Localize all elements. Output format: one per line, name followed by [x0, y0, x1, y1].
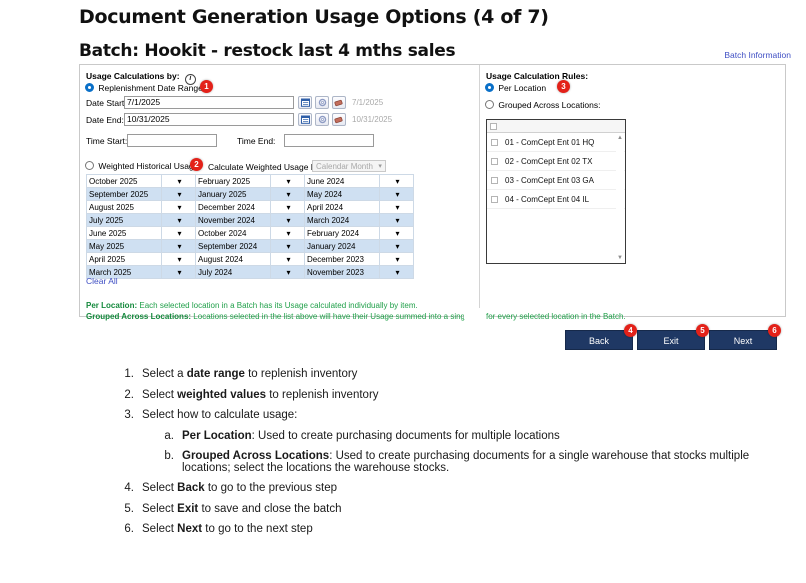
month-cell[interactable]: April 2025	[87, 253, 162, 266]
callout-badge-3: 3	[557, 80, 570, 93]
month-grid-row: October 2025▾February 2025▾June 2024▾	[87, 175, 414, 188]
month-cell[interactable]: April 2024	[305, 201, 380, 214]
date-start-input[interactable]	[124, 96, 294, 109]
callout-badge-6: 6	[768, 324, 781, 337]
pane-seam-occluder	[464, 308, 488, 319]
date-end-ghost: 10/31/2025	[352, 115, 392, 124]
date-end-label: Date End:	[86, 115, 124, 125]
note-grouped-across-locations: Grouped Across Locations: Locations sele…	[86, 312, 465, 321]
note-grouped-text: Locations selected in the list above wil…	[193, 312, 465, 321]
month-weight-dropdown[interactable]: ▾	[162, 188, 196, 201]
month-weight-dropdown[interactable]: ▾	[271, 266, 305, 279]
instruction-substep: a.Per Location: Used to create purchasin…	[160, 431, 792, 443]
month-cell[interactable]: October 2025	[87, 175, 162, 188]
location-row[interactable]: 01 - ComCept Ent 01 HQ	[487, 133, 625, 152]
month-cell[interactable]: November 2023	[305, 266, 380, 279]
usage-calculations-pane: Usage Calculations by: i Replenishment D…	[80, 65, 479, 318]
month-grid-row: May 2025▾September 2024▾January 2024▾	[87, 240, 414, 253]
weighted-by-label: Calculate Weighted Usage by:	[208, 162, 322, 172]
location-checkbox[interactable]	[491, 139, 498, 146]
month-weight-dropdown[interactable]: ▾	[162, 175, 196, 188]
month-cell[interactable]: October 2024	[196, 227, 271, 240]
month-cell[interactable]: September 2025	[87, 188, 162, 201]
radio-indicator-per-location	[485, 83, 494, 92]
month-cell[interactable]: July 2024	[196, 266, 271, 279]
month-cell[interactable]: December 2024	[196, 201, 271, 214]
location-rows: 01 - ComCept Ent 01 HQ02 - ComCept Ent 0…	[487, 133, 625, 209]
select-all-checkbox[interactable]	[490, 123, 497, 130]
callout-badge-2: 2	[190, 158, 203, 171]
month-cell[interactable]: September 2024	[196, 240, 271, 253]
month-weight-dropdown[interactable]: ▾	[162, 227, 196, 240]
month-grid-row: August 2025▾December 2024▾April 2024▾	[87, 201, 414, 214]
location-checkbox[interactable]	[491, 177, 498, 184]
month-grid-row: July 2025▾November 2024▾March 2024▾	[87, 214, 414, 227]
scroll-down-arrow[interactable]: ▼	[616, 254, 624, 262]
month-weight-dropdown[interactable]: ▾	[380, 214, 414, 227]
location-row[interactable]: 03 - ComCept Ent 03 GA	[487, 171, 625, 190]
date-end-input[interactable]	[124, 113, 294, 126]
back-button[interactable]: Back4	[565, 330, 633, 350]
instruction-step-number: 4.	[112, 483, 142, 495]
date-start-label: Date Start:	[86, 98, 127, 108]
month-weight-dropdown[interactable]: ▾	[271, 240, 305, 253]
note-grouped-text-end: for every selected location in the Batch…	[486, 312, 626, 321]
month-cell[interactable]: August 2024	[196, 253, 271, 266]
note-per-location: Per Location: Each selected location in …	[86, 301, 418, 310]
month-weight-dropdown[interactable]: ▾	[162, 253, 196, 266]
callout-badge-5: 5	[696, 324, 709, 337]
instruction-substep: b.Grouped Across Locations: Used to crea…	[160, 451, 792, 474]
instruction-list: 1.Select a date range to replenish inven…	[112, 369, 792, 545]
radio-replenishment-date-range[interactable]: Replenishment Date Range	[85, 83, 203, 93]
eraser-icon[interactable]	[332, 96, 346, 109]
location-label: 03 - ComCept Ent 03 GA	[505, 176, 594, 185]
month-cell[interactable]: June 2024	[305, 175, 380, 188]
location-label: 02 - ComCept Ent 02 TX	[505, 157, 592, 166]
instruction-substep-number: a.	[160, 431, 182, 443]
location-list-header[interactable]	[487, 120, 625, 133]
callout-badge-1: 1	[200, 80, 213, 93]
month-weight-dropdown[interactable]: ▾	[162, 201, 196, 214]
instruction-substep-number: b.	[160, 451, 182, 474]
instruction-step: 4.Select Back to go to the previous step	[112, 483, 792, 495]
month-cell[interactable]: December 2023	[305, 253, 380, 266]
time-end-label: Time End:	[237, 136, 275, 146]
gear-icon[interactable]	[315, 96, 329, 109]
instruction-step-text: Select Exit to save and close the batch	[142, 504, 792, 516]
instruction-step: 2.Select weighted values to replenish in…	[112, 390, 792, 402]
instruction-step-number: 5.	[112, 504, 142, 516]
month-weight-dropdown[interactable]: ▾	[271, 175, 305, 188]
month-cell[interactable]: November 2024	[196, 214, 271, 227]
month-weight-dropdown[interactable]: ▾	[162, 214, 196, 227]
month-cell[interactable]: January 2025	[196, 188, 271, 201]
month-grid-row: June 2025▾October 2024▾February 2024▾	[87, 227, 414, 240]
note-per-location-label: Per Location:	[86, 301, 137, 310]
month-weight-dropdown[interactable]: ▾	[271, 214, 305, 227]
location-label: 04 - ComCept Ent 04 IL	[505, 195, 589, 204]
radio-indicator-grouped	[485, 100, 494, 109]
month-weight-dropdown[interactable]: ▾	[380, 253, 414, 266]
instruction-step-text: Select Back to go to the previous step	[142, 483, 792, 495]
month-cell[interactable]: June 2025	[87, 227, 162, 240]
location-list-scrollbar[interactable]: ▲ ▼	[616, 134, 624, 262]
calendar-icon[interactable]	[298, 96, 312, 109]
month-weight-dropdown[interactable]: ▾	[380, 188, 414, 201]
month-cell[interactable]: February 2024	[305, 227, 380, 240]
exit-button[interactable]: Exit5	[637, 330, 705, 350]
next-button[interactable]: Next6	[709, 330, 777, 350]
instruction-step-number: 2.	[112, 390, 142, 402]
instruction-step-number: 3.	[112, 410, 142, 422]
month-grid-row: September 2025▾January 2025▾May 2024▾	[87, 188, 414, 201]
month-weight-dropdown[interactable]: ▾	[380, 201, 414, 214]
month-weight-dropdown[interactable]: ▾	[271, 201, 305, 214]
note-grouped-label: Grouped Across Locations:	[86, 312, 191, 321]
radio-per-location[interactable]: Per Location	[485, 83, 546, 93]
wizard-button-row: Back4Exit5Next6	[565, 330, 781, 350]
radio-indicator-date-range	[85, 83, 94, 92]
time-start-input[interactable]	[127, 134, 217, 147]
batch-information-link[interactable]: Batch Information	[724, 50, 791, 60]
month-weight-dropdown[interactable]: ▾	[380, 266, 414, 279]
weighted-by-select[interactable]: Calendar Month	[312, 160, 386, 172]
instruction-step-text: Select how to calculate usage:	[142, 410, 792, 422]
instruction-step-text: Select a date range to replenish invento…	[142, 369, 792, 381]
location-row[interactable]: 04 - ComCept Ent 04 IL	[487, 190, 625, 209]
location-list[interactable]: 01 - ComCept Ent 01 HQ02 - ComCept Ent 0…	[486, 119, 626, 264]
month-weight-dropdown[interactable]: ▾	[162, 266, 196, 279]
month-cell[interactable]: March 2024	[305, 214, 380, 227]
application-panel: Usage Calculations by: i Replenishment D…	[79, 64, 786, 317]
month-weight-dropdown[interactable]: ▾	[271, 253, 305, 266]
month-cell[interactable]: May 2025	[87, 240, 162, 253]
month-cell[interactable]: February 2025	[196, 175, 271, 188]
page-title: Document Generation Usage Options (4 of …	[79, 6, 549, 28]
radio-indicator-weighted	[85, 161, 94, 170]
month-grid-row: April 2025▾August 2024▾December 2023▾	[87, 253, 414, 266]
eraser-icon[interactable]	[332, 113, 346, 126]
month-grid-row: March 2025▾July 2024▾November 2023▾	[87, 266, 414, 279]
month-cell[interactable]: May 2024	[305, 188, 380, 201]
month-cell[interactable]: January 2024	[305, 240, 380, 253]
month-weight-dropdown[interactable]: ▾	[380, 240, 414, 253]
time-end-input[interactable]	[284, 134, 374, 147]
month-weight-dropdown[interactable]: ▾	[271, 188, 305, 201]
month-cell[interactable]: July 2025	[87, 214, 162, 227]
location-checkbox[interactable]	[491, 196, 498, 203]
callout-badge-4: 4	[624, 324, 637, 337]
instruction-step-number: 1.	[112, 369, 142, 381]
usage-rules-label: Usage Calculation Rules:	[486, 71, 588, 81]
month-weight-dropdown[interactable]: ▾	[271, 227, 305, 240]
gear-icon[interactable]	[315, 113, 329, 126]
instruction-substep-text: Grouped Across Locations: Used to create…	[182, 451, 792, 474]
month-cell[interactable]: August 2025	[87, 201, 162, 214]
instruction-step-number: 6.	[112, 524, 142, 536]
instruction-step: 1.Select a date range to replenish inven…	[112, 369, 792, 381]
month-weight-dropdown[interactable]: ▾	[380, 227, 414, 240]
instruction-step-text: Select Next to go to the next step	[142, 524, 792, 536]
month-weight-dropdown[interactable]: ▾	[380, 175, 414, 188]
instruction-step: 5.Select Exit to save and close the batc…	[112, 504, 792, 516]
radio-weighted-historical-usage[interactable]: Weighted Historical Usage	[85, 161, 198, 171]
month-selection-grid: October 2025▾February 2025▾June 2024▾Sep…	[86, 174, 414, 279]
note-per-location-text: Each selected location in a Batch has it…	[139, 301, 417, 310]
instruction-step: 6.Select Next to go to the next step	[112, 524, 792, 536]
scroll-up-arrow[interactable]: ▲	[616, 134, 624, 142]
clear-all-link[interactable]: Clear All	[86, 276, 118, 286]
month-grid-body: October 2025▾February 2025▾June 2024▾Sep…	[87, 175, 414, 279]
location-checkbox[interactable]	[491, 158, 498, 165]
page-subtitle: Batch: Hookit - restock last 4 mths sale…	[79, 41, 455, 61]
time-start-label: Time Start:	[86, 136, 127, 146]
location-label: 01 - ComCept Ent 01 HQ	[505, 138, 594, 147]
instruction-substep-text: Per Location: Used to create purchasing …	[182, 431, 792, 443]
instruction-step-text: Select weighted values to replenish inve…	[142, 390, 792, 402]
month-weight-dropdown[interactable]: ▾	[162, 240, 196, 253]
location-row[interactable]: 02 - ComCept Ent 02 TX	[487, 152, 625, 171]
radio-grouped-across-locations[interactable]: Grouped Across Locations:	[485, 100, 600, 110]
usage-calculation-rules-pane: Usage Calculation Rules: Per Location 3 …	[480, 65, 787, 318]
date-start-ghost: 7/1/2025	[352, 98, 383, 107]
calendar-icon[interactable]	[298, 113, 312, 126]
instruction-step: 3.Select how to calculate usage:	[112, 410, 792, 422]
